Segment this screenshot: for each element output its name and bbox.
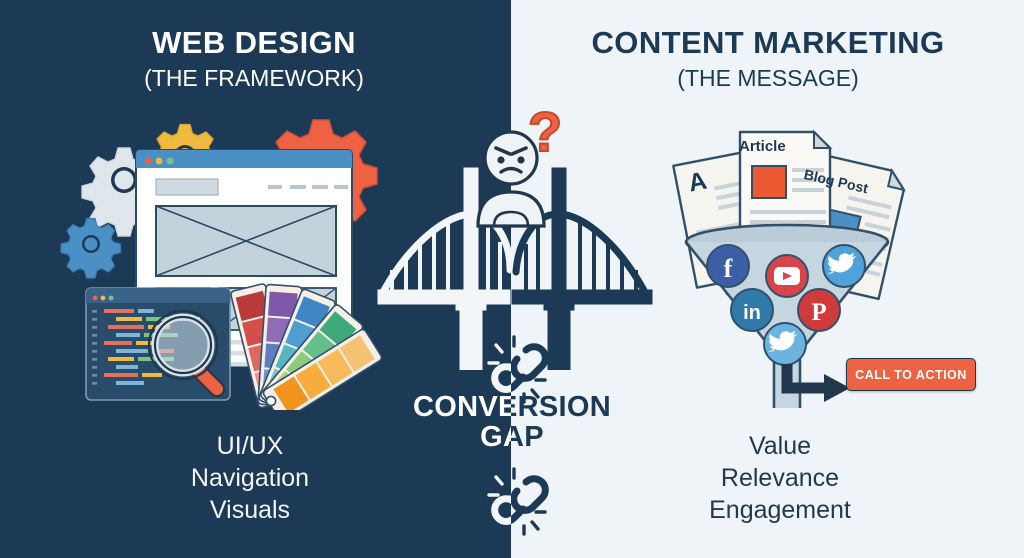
right-panel-subtitle: (THE MESSAGE) xyxy=(528,65,1008,91)
broken-chain-icon-bottom xyxy=(484,464,556,536)
confused-person-icon xyxy=(470,110,580,230)
web-design-illustration xyxy=(60,110,390,410)
right-panel-title: CONTENT MARKETING xyxy=(528,27,1008,60)
svg-text:P: P xyxy=(811,299,826,326)
right-panel-heading: CONTENT MARKETING (THE MESSAGE) xyxy=(528,27,1008,91)
right-panel-keywords: Value Relevance Engagement xyxy=(570,430,990,526)
conversion-gap-label: CONVERSION GAP CONVERSION GAP xyxy=(392,392,632,462)
svg-text:in: in xyxy=(743,302,761,324)
pinterest-icon: P xyxy=(798,289,840,331)
keyword-relevance: Relevance xyxy=(570,462,990,494)
keyword-navigation: Navigation xyxy=(40,462,460,494)
keyword-engagement: Engagement xyxy=(570,494,990,526)
linkedin-icon: in xyxy=(731,289,773,331)
facebook-icon: f xyxy=(707,245,749,287)
keyword-visuals: Visuals xyxy=(40,494,460,526)
document-article-label: Article xyxy=(739,138,786,155)
left-panel-heading: WEB DESIGN (THE FRAMEWORK) xyxy=(14,27,494,91)
infographic-canvas: ? xyxy=(0,0,1024,558)
left-panel-subtitle: (THE FRAMEWORK) xyxy=(14,65,494,91)
left-panel-title: WEB DESIGN xyxy=(14,27,494,60)
twitter-icon-2 xyxy=(764,323,806,365)
call-to-action-button[interactable]: CALL TO ACTION xyxy=(846,358,976,391)
twitter-icon xyxy=(823,245,865,287)
svg-text:f: f xyxy=(724,254,733,283)
question-mark-icon: ? xyxy=(528,104,562,160)
youtube-icon xyxy=(766,255,808,297)
keyword-value: Value xyxy=(570,430,990,462)
gear-blue-icon xyxy=(61,219,121,279)
